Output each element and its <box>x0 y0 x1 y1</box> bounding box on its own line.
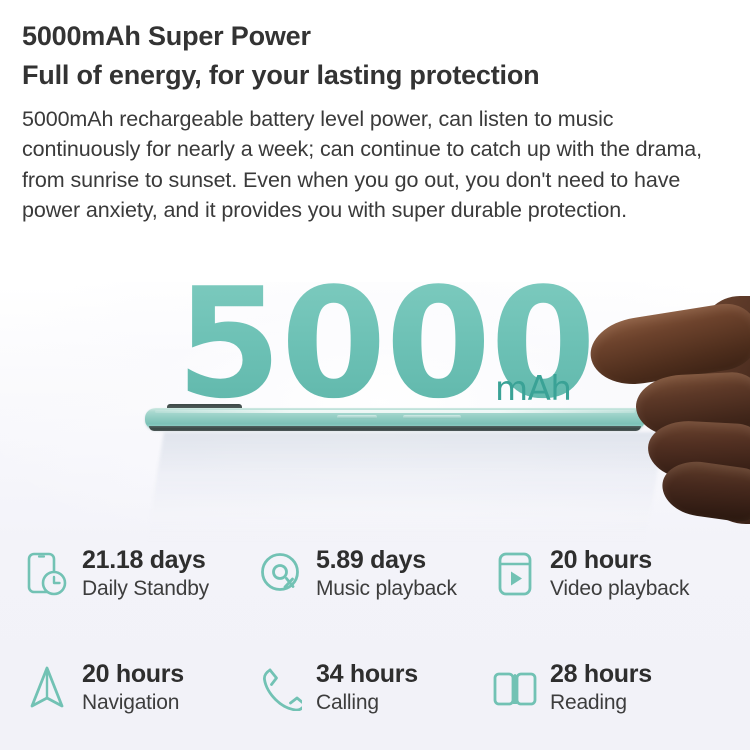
feature-item-video-playback: 20 hours Video playback <box>492 524 726 624</box>
video-play-icon <box>492 550 538 598</box>
feature-item-reading: 28 hours Reading <box>492 638 726 738</box>
feature-value: 20 hours <box>82 660 184 688</box>
feature-label: Reading <box>550 690 652 715</box>
music-disc-icon <box>258 550 304 598</box>
phone-volume-button <box>337 415 377 419</box>
feature-text: 34 hours Calling <box>316 660 418 715</box>
feature-item-navigation: 20 hours Navigation <box>24 638 258 738</box>
feature-label: Video playback <box>550 576 689 601</box>
feature-text: 20 hours Video playback <box>550 546 689 601</box>
phone-highlight <box>155 410 635 413</box>
feature-label: Navigation <box>82 690 184 715</box>
little-finger <box>659 457 750 525</box>
feature-grid: 21.18 days Daily Standby 5.89 days Music… <box>0 524 750 738</box>
navigation-arrow-icon <box>24 664 70 712</box>
feature-value: 21.18 days <box>82 546 209 574</box>
feature-text: 21.18 days Daily Standby <box>82 546 209 601</box>
feature-value: 20 hours <box>550 546 689 574</box>
feature-value: 5.89 days <box>316 546 457 574</box>
feature-value: 34 hours <box>316 660 418 688</box>
hand-holding-phone <box>596 282 750 530</box>
feature-value: 28 hours <box>550 660 652 688</box>
battery-capacity-unit: mAh <box>495 369 571 409</box>
phone-power-button <box>403 415 461 419</box>
feature-item-calling: 34 hours Calling <box>258 638 492 738</box>
phone-clock-icon <box>24 550 70 598</box>
copy-block: 5000mAh Super Power Full of energy, for … <box>22 18 728 226</box>
feature-item-daily-standby: 21.18 days Daily Standby <box>24 524 258 624</box>
product-feature-page: 5000mAh Super Power Full of energy, for … <box>0 0 750 750</box>
feature-text: 5.89 days Music playback <box>316 546 457 601</box>
page-subtitle: Full of energy, for your lasting protect… <box>22 57 728 93</box>
feature-label: Daily Standby <box>82 576 209 601</box>
feature-item-music-playback: 5.89 days Music playback <box>258 524 492 624</box>
feature-text: 28 hours Reading <box>550 660 652 715</box>
open-book-icon <box>492 664 538 712</box>
page-title: 5000mAh Super Power <box>22 18 728 54</box>
feature-label: Music playback <box>316 576 457 601</box>
phone-screen-edge <box>149 426 641 431</box>
body-paragraph: 5000mAh rechargeable battery level power… <box>22 104 722 226</box>
phone-handset-icon <box>258 664 304 712</box>
feature-text: 20 hours Navigation <box>82 660 184 715</box>
feature-label: Calling <box>316 690 418 715</box>
hero-graphic: 5000 mAh <box>0 282 750 530</box>
phone-product-image <box>145 408 645 432</box>
